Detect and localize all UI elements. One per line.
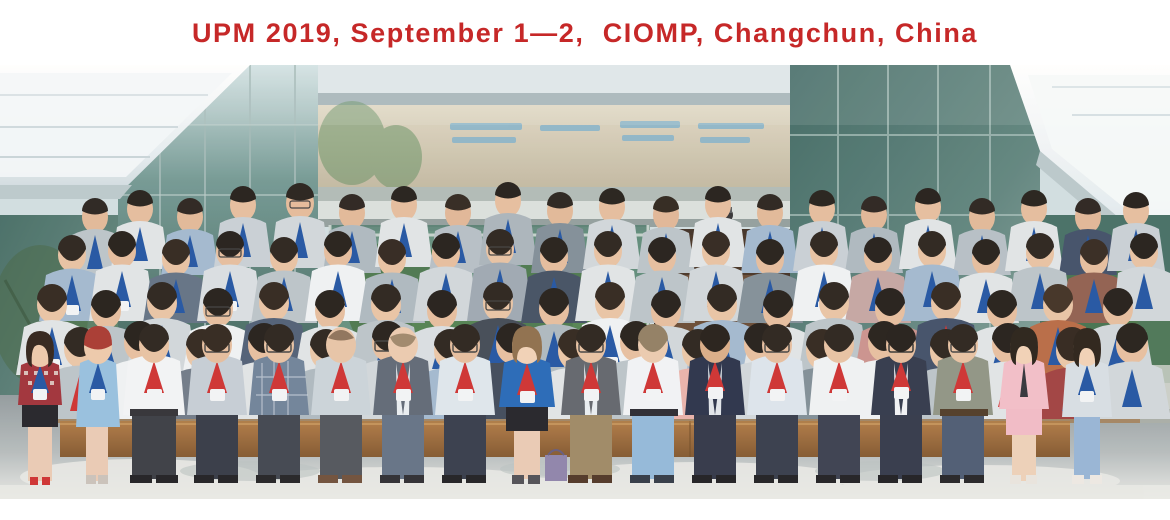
title-banner: UPM 2019, September 1—2, CIOMP, Changchu… [0,0,1170,65]
bottom-white-margin [0,499,1170,520]
poster-page: UPM 2019, September 1—2, CIOMP, Changchu… [0,0,1170,520]
group-photo-illustration [0,65,1170,499]
group-photo [0,65,1170,499]
page-title: UPM 2019, September 1—2, CIOMP, Changchu… [192,18,978,49]
